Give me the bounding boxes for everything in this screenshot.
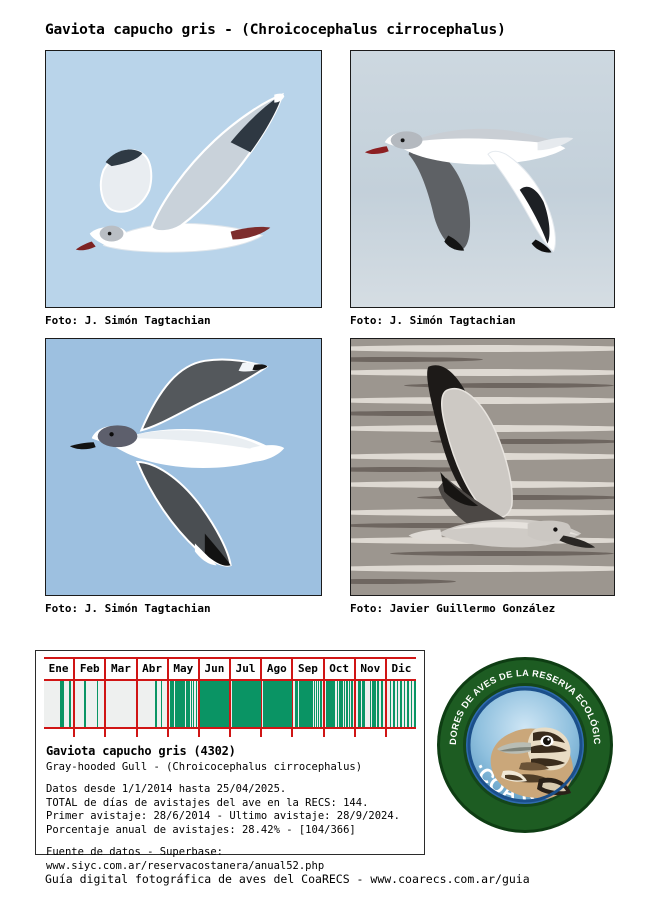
sighting-tick [349,681,351,727]
chart-month-column-oct [325,681,356,727]
photo-2-gull [351,51,614,307]
species-name: Gaviota capucho gris (4302) [46,745,424,759]
total-days-line: TOTAL de días de avistajes del ave en la… [46,797,424,811]
sighting-tick [155,681,157,727]
sighting-tick [374,681,376,727]
annual-percentage-line: Porcentaje anual de avistajes: 28.42% - … [46,824,424,838]
sighting-tick [193,681,195,727]
sighting-tick [196,681,198,727]
photo-4-gull [351,339,614,595]
photo-row-top: Foto: J. Simón Tagtachian [45,50,615,338]
sighting-tick [390,681,392,727]
source-url[interactable]: www.siyc.com.ar/reservacostanera/anual52… [46,860,424,874]
photo-caption-4: Foto: Javier Guillermo González [350,602,615,615]
sighting-tick [84,681,86,727]
sightings-data-panel: Ene Feb Mar Abr May Jun Jul Ago Sep Oct … [35,650,425,855]
sighting-tick [351,681,353,727]
photo-2[interactable] [350,50,615,308]
sighting-tick [393,681,395,727]
photo-1[interactable] [45,50,322,308]
photo-caption-3: Foto: J. Simón Tagtachian [45,602,322,615]
chart-footer-grid [44,729,416,737]
photo-1-gull [46,51,321,307]
photo-grid: Foto: J. Simón Tagtachian [45,50,615,626]
month-label-sep: Sep [293,659,324,679]
sighting-tick [346,681,348,727]
photo-4[interactable] [350,338,615,596]
sighting-tick [397,681,399,727]
photo-cell-2: Foto: J. Simón Tagtachian [350,50,615,338]
photo-cell-1: Foto: J. Simón Tagtachian [45,50,322,338]
species-english-name: Gray-hooded Gull - (Chroicocephalus cirr… [46,761,424,775]
photo-cell-4: Foto: Javier Guillermo González [350,338,615,626]
month-label-oct: Oct [325,659,356,679]
photo-cell-3: Foto: J. Simón Tagtachian [45,338,322,626]
sighting-tick [69,681,71,727]
photo-3-gull [46,339,321,595]
chart-month-header: Ene Feb Mar Abr May Jun Jul Ago Sep Oct … [44,659,416,681]
sighting-tick [414,681,416,727]
month-label-jun: Jun [200,659,231,679]
data-range-line: Datos desde 1/1/2014 hasta 25/04/2025. [46,783,424,797]
sighting-tick [377,681,379,727]
sighting-tick [228,681,230,727]
page-footer: Guía digital fotográfica de aves del Coa… [45,872,530,886]
sighting-tick [97,681,99,727]
coarecs-logo[interactable]: CLUB DE OBSERVADORES DE AVES DE LA RESER… [435,655,615,835]
chart-month-column-abr [138,681,169,727]
chart-month-column-ago [262,681,293,727]
sighting-tick [363,681,365,727]
sighting-tick [341,681,343,727]
annual-sightings-chart[interactable]: Ene Feb Mar Abr May Jun Jul Ago Sep Oct … [44,657,416,735]
sighting-tick [290,681,292,727]
chart-month-column-jun [200,681,231,727]
sighting-tick [62,681,64,727]
sighting-tick [259,681,261,727]
chart-month-column-mar [106,681,137,727]
sighting-tick [161,681,163,727]
chart-month-column-feb [75,681,106,727]
chart-month-column-jul [231,681,262,727]
month-label-ago: Ago [262,659,293,679]
chart-month-column-dic [387,681,416,727]
sighting-tick [404,681,406,727]
month-label-feb: Feb [75,659,106,679]
sighting-tick [320,681,322,727]
month-label-dic: Dic [387,659,416,679]
chart-month-column-ene [44,681,75,727]
month-label-nov: Nov [356,659,387,679]
photo-caption-1: Foto: J. Simón Tagtachian [45,314,322,327]
first-last-sighting-line: Primer avistaje: 28/6/2014 - Ultimo avis… [46,810,424,824]
photo-caption-2: Foto: J. Simón Tagtachian [350,314,615,327]
month-label-may: May [169,659,200,679]
sighting-tick [381,681,383,727]
photo-row-bottom: Foto: J. Simón Tagtachian [45,338,615,626]
month-label-jul: Jul [231,659,262,679]
sighting-tick [411,681,413,727]
chart-month-column-sep [293,681,324,727]
month-label-ene: Ene [44,659,75,679]
month-label-mar: Mar [106,659,137,679]
chart-month-column-may [169,681,200,727]
sighting-tick [407,681,409,727]
chart-plot-area [44,681,416,729]
month-label-abr: Abr [138,659,169,679]
photo-3[interactable] [45,338,322,596]
sighting-tick [333,681,335,727]
sighting-tick [400,681,402,727]
chart-month-column-nov [356,681,387,727]
page-title: Gaviota capucho gris - (Chroicocephalus … [45,22,506,38]
source-label: Fuente de datos - Superbase: [46,846,424,860]
panel-text-block: Gaviota capucho gris (4302) Gray-hooded … [36,735,424,873]
